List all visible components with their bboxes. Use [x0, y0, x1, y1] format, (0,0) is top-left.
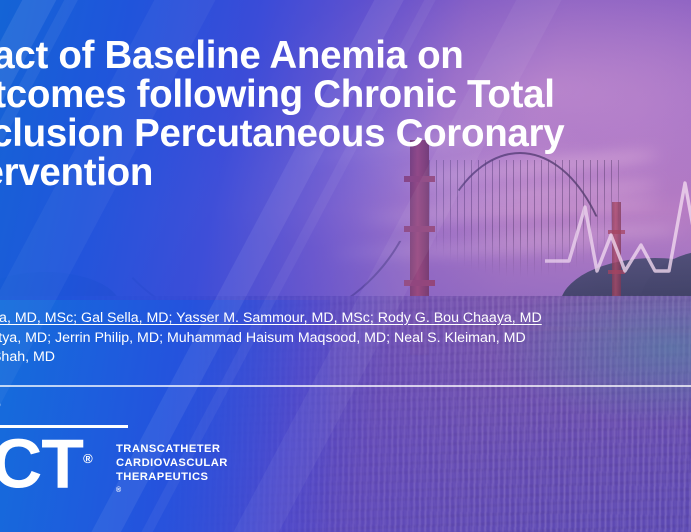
- tct-tagline: TRANSCATHETER CARDIOVASCULAR THERAPEUTIC…: [116, 442, 228, 501]
- title-line: tervention: [0, 153, 691, 192]
- tagline-line: TRANSCATHETER: [116, 442, 228, 456]
- author-line: n R. Shah, MD: [0, 348, 691, 368]
- tct-crf-logo: RF® TCT® TRANSCATHETER CARDIOVASCULAR TH…: [0, 392, 296, 502]
- title-line: pact of Baseline Anemia on: [0, 36, 691, 75]
- tct-wordmark: TCT®: [0, 426, 92, 496]
- author-line: sh Kritya, MD; Jerrin Philip, MD; Muhamm…: [0, 329, 691, 349]
- title-line: utcomes following Chronic Total: [0, 75, 691, 114]
- registered-mark-icon: ®: [83, 451, 92, 466]
- crf-wordmark: RF®: [0, 392, 1, 423]
- tagline-line: CARDIOVASCULAR: [116, 456, 228, 470]
- registered-mark-icon: ®: [0, 398, 1, 412]
- horizontal-divider: [0, 385, 691, 387]
- title-line: cclusion Percutaneous Coronary: [0, 114, 691, 153]
- author-line-presenter: Kharsa, MD, MSc; Gal Sella, MD; Yasser M…: [0, 309, 691, 329]
- tagline-text: THERAPEUTICS: [116, 470, 228, 484]
- tagline-line-last: THERAPEUTICS®: [116, 470, 228, 501]
- author-list: Kharsa, MD, MSc; Gal Sella, MD; Yasser M…: [0, 309, 691, 368]
- slide-content: pact of Baseline Anemia on utcomes follo…: [0, 0, 691, 532]
- registered-mark-icon: ®: [116, 487, 122, 494]
- tct-text: TCT: [0, 424, 83, 502]
- title-slide: pact of Baseline Anemia on utcomes follo…: [0, 0, 691, 532]
- slide-title: pact of Baseline Anemia on utcomes follo…: [0, 36, 691, 192]
